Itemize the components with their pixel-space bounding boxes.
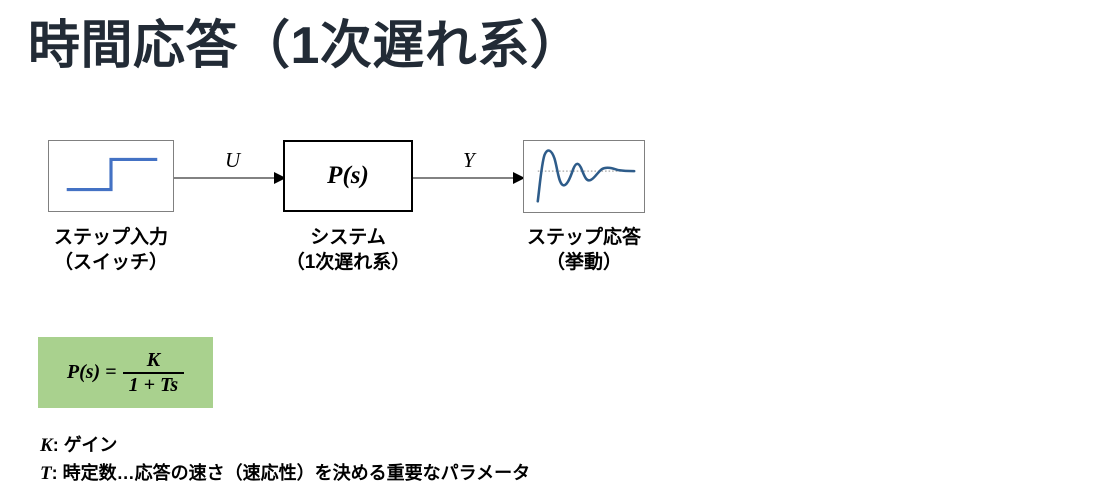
system-caption-line2: （1次遅れ系） <box>286 252 411 273</box>
transfer-function-formula-box: P(s) = K 1 + Ts <box>38 337 213 408</box>
step-input-box <box>48 140 174 212</box>
formula-numerator: K <box>137 350 170 372</box>
legend-text-t: 時定数…応答の速さ（速応性）を決める重要なパラメータ <box>58 463 530 483</box>
formula-left-hand-side: P(s) = <box>67 361 117 384</box>
parameter-legend: K: ゲイン T: 時定数…応答の速さ（速応性）を決める重要なパラメータ <box>40 432 530 487</box>
block-diagram: ステップ入力 （スイッチ） U P(s) システム （1次遅れ系） Y ステップ… <box>0 0 1098 290</box>
step-response-caption: ステップ応答 （挙動） <box>527 226 641 275</box>
step-input-caption-line2: （スイッチ） <box>54 252 168 273</box>
legend-line-t: T: 時定数…応答の速さ（速応性）を決める重要なパラメータ <box>40 460 530 488</box>
step-response-waveform-icon <box>524 141 644 212</box>
step-input-caption-line1: ステップ入力 <box>54 227 168 248</box>
system-caption-line1: システム <box>310 227 385 248</box>
step-input-waveform-icon <box>49 141 173 211</box>
legend-symbol-k: K <box>40 435 53 456</box>
formula-fraction: K 1 + Ts <box>123 350 185 396</box>
step-response-caption-line2: （挙動） <box>546 252 622 273</box>
step-input-caption: ステップ入力 （スイッチ） <box>54 226 168 275</box>
system-box: P(s) <box>283 140 413 212</box>
signal-label-u: U <box>225 148 240 173</box>
system-transfer-function-label: P(s) <box>285 142 411 210</box>
signal-label-y: Y <box>463 148 475 173</box>
system-caption: システム （1次遅れ系） <box>286 226 411 275</box>
formula-expression: P(s) = K 1 + Ts <box>67 350 184 396</box>
step-response-caption-line1: ステップ応答 <box>527 227 641 248</box>
legend-line-k: K: ゲイン <box>40 432 530 460</box>
formula-denominator: 1 + Ts <box>123 374 185 396</box>
legend-symbol-t: T <box>40 463 52 484</box>
legend-text-k: ゲイン <box>59 435 118 455</box>
step-response-box <box>523 140 645 213</box>
